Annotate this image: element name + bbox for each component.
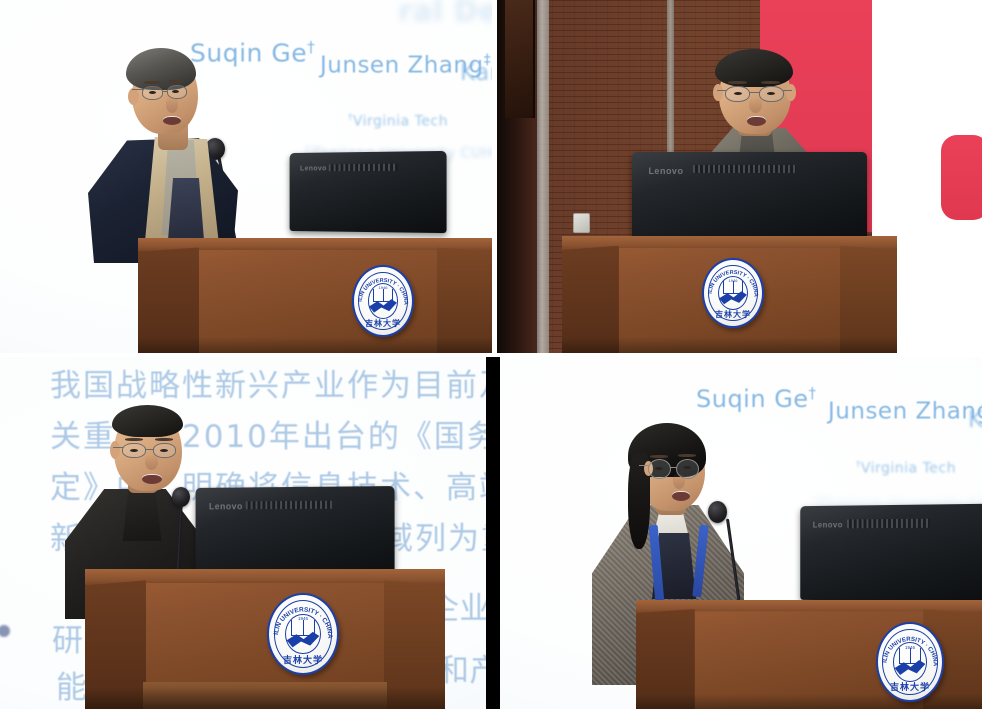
laptop-vent [246, 500, 333, 509]
speaker-sweater-tl [168, 178, 204, 240]
wall-door-tr [505, 0, 535, 118]
speaker-photo-bottom-right: Suqin Ge† Junsen Zhang‡ Kan †Virginia Te… [500, 357, 982, 709]
lenovo-laptop-tr: Lenovo [632, 152, 867, 240]
glasses-bridge-br [670, 467, 677, 468]
speaker-eye-right-tr [767, 92, 775, 95]
slide-cn-line-9: 能 [56, 662, 88, 707]
slide-cn-line-7: 研 [52, 615, 84, 660]
speaker-eye-left-br [655, 467, 663, 470]
speaker-brow-right-tr [761, 81, 780, 84]
speaker-mouth-tr [747, 116, 766, 126]
emblem-book-icon [899, 648, 921, 663]
affil-1-text: Virginia Tech [861, 461, 956, 477]
speaker-photo-top-right: Lenovo JILIN UNIVERSITY · CHINA 1946 [497, 0, 982, 353]
author-2-name: Junsen Zhang [828, 399, 982, 425]
laptop-brand-label: Lenovo [300, 165, 327, 172]
lenovo-laptop-tl: Lenovo [290, 151, 447, 233]
glasses-arm-right-tr [783, 90, 792, 91]
lectern-tr: JILIN UNIVERSITY · CHINA 1946 吉林大学 [562, 236, 897, 353]
laptop-brand-label: Lenovo [813, 521, 843, 530]
laptop-brand-label: Lenovo [648, 166, 683, 176]
laptop-vent [329, 164, 398, 172]
jilin-university-emblem-br: JILIN UNIVERSITY · CHINA 1946 吉林大学 [876, 622, 944, 702]
speaker-ear-right-tr [786, 84, 796, 101]
speaker-brow-right-bl [155, 438, 173, 441]
speaker-brow-right-br [678, 454, 696, 457]
speaker-eye-right-br [683, 466, 691, 469]
glasses-arm-left-tr [717, 90, 726, 91]
emblem-chinese-label: 吉林大学 [704, 309, 762, 320]
slide-author-1-tl: Suqin Ge† [190, 38, 315, 67]
speaker-eye-left-bl [130, 449, 138, 452]
speaker-brow-left-tr [728, 81, 747, 84]
wall-power-socket-tr [573, 213, 590, 233]
slide-affiliation-1-br: †Virginia Tech [856, 460, 956, 477]
author-1-marker: † [307, 38, 315, 56]
speaker-nose-br [673, 473, 685, 489]
speaker-brow-right-tl [168, 80, 184, 83]
speaker-brow-left-tl [144, 81, 161, 84]
emblem-chinese-label: 吉林大学 [269, 653, 337, 666]
speaker-eye-right-bl [160, 449, 168, 452]
speaker-brow-left-bl [125, 438, 143, 441]
speaker-eye-left-tl [149, 91, 156, 94]
microphone-head-br [708, 501, 727, 523]
speaker-mouth-tl [163, 116, 181, 125]
speaker-nose-bl [145, 454, 158, 470]
emblem-chinese-label: 吉林大学 [354, 318, 412, 329]
lectern-br: JILIN UNIVERSITY · CHINA 1946 吉林大学 [636, 600, 982, 709]
red-banner-rounded-tr [941, 135, 982, 220]
laptop-vent [693, 165, 796, 173]
speaker-hair-bl [112, 405, 183, 437]
slide-author-1-br: Suqin Ge† [696, 384, 817, 413]
glasses-bridge-bl [145, 449, 154, 450]
slide-affiliation-1-tl: †Virginia Tech [348, 113, 448, 130]
speaker-ear-tl [128, 88, 139, 105]
lenovo-laptop-br: Lenovo [800, 504, 982, 603]
speaker-photo-bottom-left: 我国战略性新兴产业作为目前及未 关重要，2010年出台的《国务院关 定》中，明确… [0, 357, 486, 709]
glasses-bridge-tl [162, 91, 168, 92]
laptop-vent [847, 519, 930, 528]
emblem-book-icon [291, 620, 314, 636]
speaker-ear-bl [110, 441, 120, 459]
emblem-book-icon [723, 281, 743, 294]
panel-seam-divider [486, 357, 500, 709]
slide-author-3-tl: Kan [460, 60, 492, 86]
speaker-ear-left-tr [713, 84, 723, 101]
lenovo-laptop-bl: Lenovo [196, 486, 395, 578]
laptop-lid [196, 486, 395, 578]
speaker-nose-tr [749, 97, 762, 113]
speaker-brow-left-br [650, 455, 668, 458]
author-1-name: Suqin Ge [190, 38, 307, 67]
slide-title-fragment-tl: ral Dev [398, 0, 492, 28]
lectern-bl: JILIN UNIVERSITY · CHINA 1946 吉林大学 [85, 569, 445, 709]
speaker-mouth-br [672, 491, 690, 501]
glasses-bridge-tr [749, 92, 760, 93]
slide-cn-line-8: 和产 [438, 645, 486, 690]
slide-cn-line-1: 我国战略性新兴产业作为目前及未 [50, 360, 486, 405]
lectern-shadow-bl [85, 687, 445, 709]
speaker-nose-tl [166, 96, 178, 113]
lectern-tl: JILIN UNIVERSITY · CHINA 1946 吉林大学 [138, 238, 492, 353]
affil-1-text: Virginia Tech [353, 114, 448, 130]
emblem-book-icon [373, 289, 393, 303]
glasses-arm-bl [113, 447, 123, 448]
lectern-shadow-tr [562, 337, 897, 353]
author-1-marker: † [809, 384, 817, 402]
jilin-university-emblem-tr: JILIN UNIVERSITY · CHINA 1946 吉林大学 [702, 258, 764, 328]
laptop-brand-label: Lenovo [209, 502, 243, 512]
lectern-shadow-tl [138, 337, 492, 353]
speaker-eye-left-tr [734, 92, 742, 95]
speaker-eye-right-tl [172, 90, 179, 93]
jilin-university-emblem-tl: JILIN UNIVERSITY · CHINA 1946 吉林大学 [352, 265, 414, 337]
author-1-name: Suqin Ge [696, 385, 809, 413]
glasses-arm-br [639, 465, 649, 466]
emblem-chinese-label: 吉林大学 [878, 680, 942, 693]
photo-collage: ral Dev Suqin Ge† Junsen Zhang‡ Kan †Vir… [0, 0, 982, 709]
speaker-photo-top-left: ral Dev Suqin Ge† Junsen Zhang‡ Kan †Vir… [0, 0, 492, 353]
slide-author-2-br: Junsen Zhang‡ [828, 398, 982, 425]
glasses-arm-tl [132, 89, 143, 90]
slide-author-3-br: Kan [968, 407, 982, 433]
slide-cn-line-5: 域列为重 [382, 513, 486, 558]
microphone-head-bl [172, 487, 190, 507]
speaker-mouth-bl [142, 474, 162, 484]
wall-pillar-tr [537, 0, 549, 353]
jilin-university-emblem-bl: JILIN UNIVERSITY · CHINA 1946 吉林大学 [267, 593, 339, 675]
